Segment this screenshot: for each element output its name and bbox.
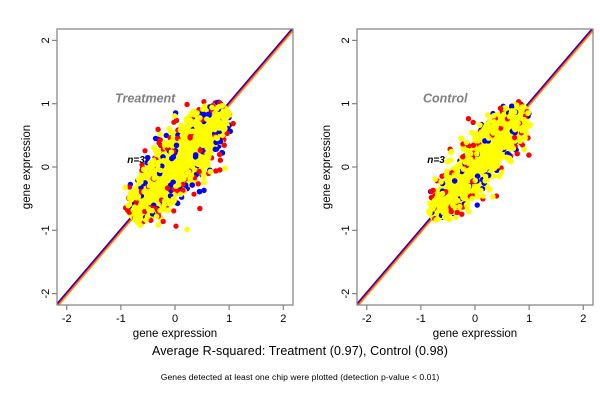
sample-size-annotation: n=3: [127, 155, 145, 166]
caption-average-r-squared: Average R-squared: Treatment (0.97), Con…: [0, 344, 600, 358]
x-tick-label: 2: [280, 313, 286, 325]
y-tick-label: -1: [40, 225, 52, 235]
x-tick-label: -2: [62, 313, 72, 325]
x-tick-label: 0: [472, 313, 478, 325]
y-tick-label: 1: [40, 101, 52, 107]
x-axis-title: gene expression: [133, 328, 217, 340]
y-tick-label: 0: [40, 164, 52, 170]
y-tick-label: 2: [40, 37, 52, 43]
x-tick-label: -2: [362, 313, 372, 325]
panel-title-label: Control: [423, 91, 468, 105]
x-tick-label: 1: [526, 313, 532, 325]
figure-root: -2-1012-2-1012gene expressiongene expres…: [0, 0, 600, 400]
y-axis-title: gene expression: [21, 125, 33, 209]
x-tick-label: 2: [580, 313, 586, 325]
x-tick-label: 0: [172, 313, 178, 325]
data-layer: [357, 28, 593, 307]
x-axis-title: gene expression: [433, 328, 517, 340]
x-tick-label: 1: [226, 313, 232, 325]
y-axis-title: gene expression: [321, 125, 333, 209]
control-plot-svg: -2-1012-2-1012gene expressiongene expres…: [300, 0, 600, 340]
data-layer: [57, 28, 293, 307]
y-tick-label: 2: [340, 37, 352, 43]
x-tick-label: -1: [116, 313, 126, 325]
y-tick-label: -2: [340, 289, 352, 299]
caption-detection-note: Genes detected at least one chip were pl…: [0, 372, 600, 382]
panel-control: -2-1012-2-1012gene expressiongene expres…: [300, 0, 600, 340]
panel-treatment: -2-1012-2-1012gene expressiongene expres…: [0, 0, 300, 340]
treatment-plot-svg: -2-1012-2-1012gene expressiongene expres…: [0, 0, 300, 340]
y-tick-label: -1: [340, 225, 352, 235]
y-tick-label: 1: [340, 101, 352, 107]
y-tick-label: -2: [40, 289, 52, 299]
x-tick-label: -1: [416, 313, 426, 325]
y-tick-label: 0: [340, 164, 352, 170]
sample-size-annotation: n=3: [427, 155, 445, 166]
panel-title-label: Treatment: [115, 91, 176, 105]
